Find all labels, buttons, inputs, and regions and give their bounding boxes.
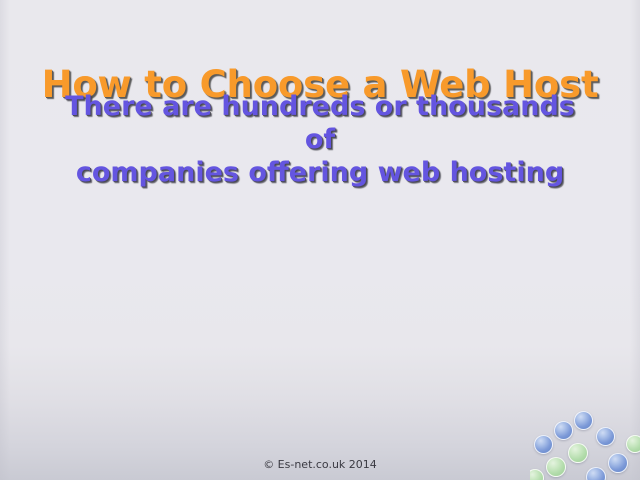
decorative-sphere: [574, 411, 593, 430]
slide-subtitle-line-2: companies offering web hosting: [50, 156, 590, 189]
presentation-slide: How to Choose a Web Host There are hundr…: [0, 0, 640, 480]
slide-subtitle-line-1: There are hundreds or thousands of: [50, 90, 590, 156]
copyright-footer: © Es-net.co.uk 2014: [0, 458, 640, 471]
decorative-sphere: [534, 435, 553, 454]
slide-subtitle: There are hundreds or thousands of compa…: [50, 90, 590, 189]
decorative-sphere: [626, 435, 640, 453]
decorative-sphere: [554, 421, 573, 440]
decorative-sphere: [596, 427, 615, 446]
